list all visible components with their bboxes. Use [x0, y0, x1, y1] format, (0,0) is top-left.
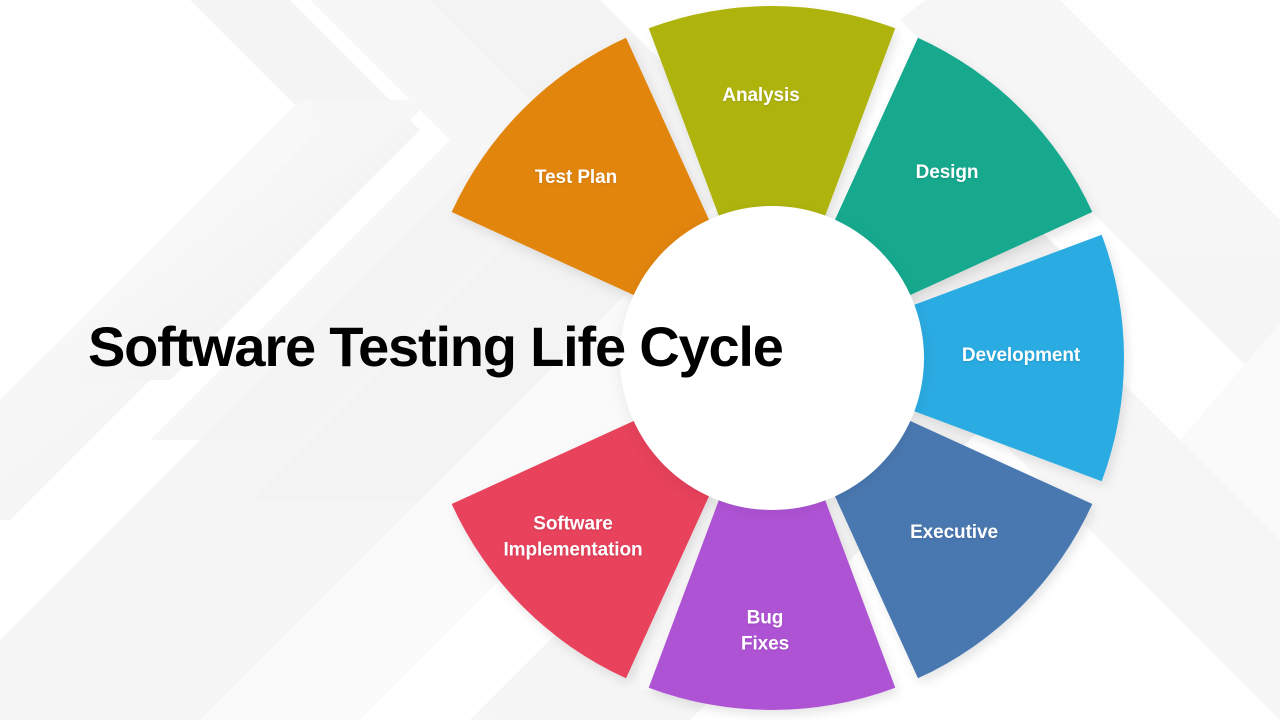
segment-label-software-implementation: Software Implementation [503, 511, 642, 562]
slide-canvas: AnalysisDesignDevelopmentExecutiveBug Fi… [0, 0, 1280, 720]
page-title: Software Testing Life Cycle [88, 318, 918, 377]
segment-label-development: Development [962, 343, 1080, 369]
segment-label-bug-fixes: Bug Fixes [741, 605, 789, 656]
segment-label-analysis: Analysis [722, 83, 799, 109]
segment-label-design: Design [916, 160, 979, 186]
segment-label-executive: Executive [910, 520, 998, 546]
segment-label-test-plan: Test Plan [535, 165, 617, 191]
